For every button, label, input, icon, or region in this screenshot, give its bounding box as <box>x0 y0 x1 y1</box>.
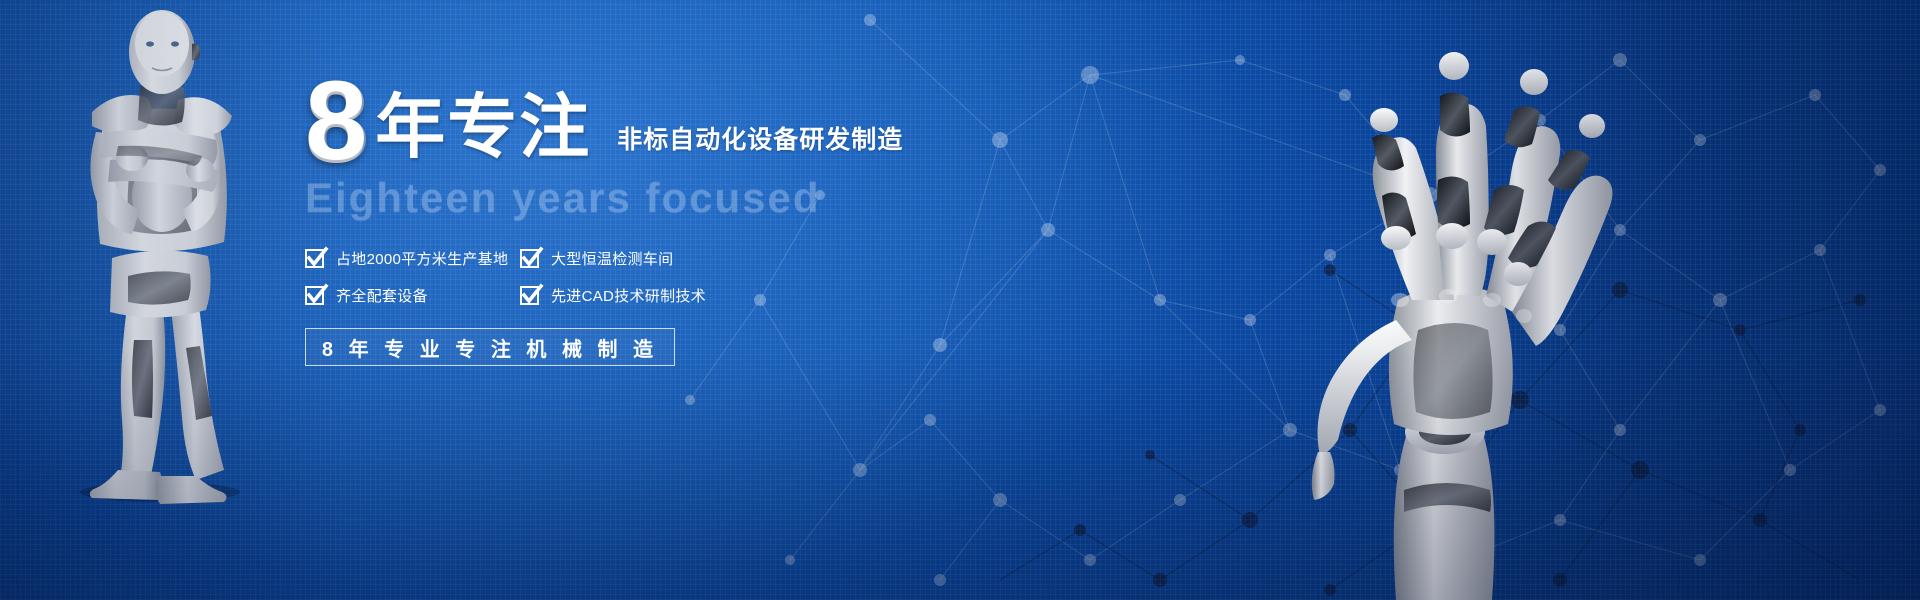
headline-chinese: 年专注 <box>375 92 591 162</box>
slogan-text: 8 年 专 业 专 注 机 械 制 造 <box>322 333 658 362</box>
feature-label: 大型恒温检测车间 <box>551 248 673 269</box>
check-icon <box>305 286 324 305</box>
feature-label: 先进CAD技术研制技术 <box>551 285 706 306</box>
feature-label: 齐全配套设备 <box>336 285 428 306</box>
check-icon <box>520 286 539 305</box>
feature-item: 先进CAD技术研制技术 <box>520 285 735 306</box>
feature-label: 占地2000平方米生产基地 <box>336 248 508 269</box>
headline-subtitle: 非标自动化设备研发制造 <box>617 120 903 156</box>
feature-item: 齐全配套设备 <box>305 285 520 306</box>
feature-item: 大型恒温检测车间 <box>520 248 735 269</box>
headline-number: 8 <box>305 69 365 172</box>
english-tagline: Eighteen years focused <box>305 174 1005 222</box>
check-icon <box>305 249 324 268</box>
banner-text-block: 8 年专注 非标自动化设备研发制造 Eighteen years focused… <box>305 72 1005 366</box>
headline-row: 8 年专注 非标自动化设备研发制造 <box>305 72 1005 168</box>
feature-item: 占地2000平方米生产基地 <box>305 248 520 269</box>
check-icon <box>520 249 539 268</box>
slogan-box: 8 年 专 业 专 注 机 械 制 造 <box>305 328 675 366</box>
feature-list: 占地2000平方米生产基地 大型恒温检测车间 齐全配套设备 先进CAD技术研制技… <box>305 248 1005 306</box>
hero-banner: 8 年专注 非标自动化设备研发制造 Eighteen years focused… <box>0 0 1920 600</box>
